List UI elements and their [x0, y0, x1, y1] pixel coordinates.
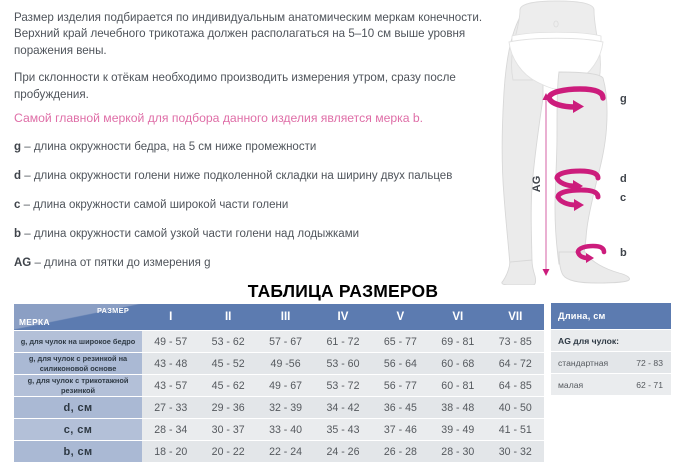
length-panel-header: Длина, см	[551, 303, 671, 329]
legend-text-g: – длина окружности бедра, на 5 см ниже п…	[24, 141, 316, 153]
leg-measurement-illustration: AG g d c	[487, 0, 686, 285]
cell-r3-c2: 32 - 39	[257, 397, 314, 418]
cell-r0-c3: 61 - 72	[314, 331, 371, 352]
intro-paragraph-1: Размер изделия подбирается по индивидуал…	[14, 10, 496, 59]
cell-r3-c1: 29 - 36	[199, 397, 256, 418]
table-row: g, для чулок с резинкой на силиконовой о…	[14, 353, 544, 374]
legend-item-d: d – длина окружности голени ниже подколе…	[14, 169, 504, 183]
header-col-5: V	[372, 304, 429, 330]
legend-key-d: d	[14, 170, 21, 182]
cell-r2-c3: 53 - 72	[314, 375, 371, 396]
length-value-standard: 72 - 83	[636, 358, 663, 368]
cell-r5-c2: 22 - 24	[257, 441, 314, 462]
legend-text-b: – длина окружности самой узкой части гол…	[24, 228, 359, 240]
legend-key-ag: AG	[14, 257, 31, 269]
header-merka-label: МЕРКА	[19, 317, 50, 327]
length-name-ag: AG для чулок:	[558, 336, 619, 346]
legend-item-b: b – длина окружности самой узкой части г…	[14, 227, 504, 241]
cell-r4-c5: 39 - 49	[429, 419, 486, 440]
cell-r1-c5: 60 - 68	[429, 353, 486, 374]
table-row: c, см 28 - 34 30 - 37 33 - 40 35 - 43 37…	[14, 419, 544, 440]
cell-r5-c6: 30 - 32	[487, 441, 545, 462]
header-corner-cell: РАЗМЕР МЕРКА	[14, 304, 142, 330]
cell-r4-c4: 37 - 46	[372, 419, 429, 440]
legend-text-c: – длина окружности самой широкой части г…	[24, 199, 289, 211]
cell-r1-c0: 43 - 48	[142, 353, 199, 374]
cell-r3-c6: 40 - 50	[487, 397, 545, 418]
size-table: РАЗМЕР МЕРКА I II III IV V VI VII g, для…	[14, 303, 544, 463]
cell-r0-c6: 73 - 85	[487, 331, 545, 352]
cell-r2-c2: 49 - 67	[257, 375, 314, 396]
size-table-header-row: РАЗМЕР МЕРКА I II III IV V VI VII	[14, 304, 544, 330]
cell-r0-c5: 69 - 81	[429, 331, 486, 352]
cell-r4-c3: 35 - 43	[314, 419, 371, 440]
legend-text-ag: – длина от пятки до измерения g	[34, 257, 210, 269]
table-row: d, см 27 - 33 29 - 36 32 - 39 34 - 42 36…	[14, 397, 544, 418]
size-table-head: РАЗМЕР МЕРКА I II III IV V VI VII	[14, 304, 544, 330]
label-c: c	[620, 192, 626, 204]
cell-r1-c1: 45 - 52	[199, 353, 256, 374]
cell-r3-c5: 38 - 48	[429, 397, 486, 418]
cell-r1-c6: 64 - 72	[487, 353, 545, 374]
label-b: b	[620, 247, 627, 259]
cell-r0-c4: 65 - 77	[372, 331, 429, 352]
header-col-6: VI	[429, 304, 486, 330]
cell-r2-c4: 56 - 77	[372, 375, 429, 396]
size-table-body: g, для чулок на широкое бедро 49 - 57 53…	[14, 331, 544, 462]
cell-r2-c5: 60 - 81	[429, 375, 486, 396]
cell-r3-c3: 34 - 42	[314, 397, 371, 418]
row-label-g-silicone: g, для чулок с резинкой на силиконовой о…	[14, 353, 142, 374]
cell-r5-c3: 24 - 26	[314, 441, 371, 462]
cell-r2-c1: 45 - 62	[199, 375, 256, 396]
length-row-standard: стандартная 72 - 83	[551, 352, 671, 373]
header-col-7: VII	[487, 304, 545, 330]
right-foot-shape	[559, 252, 630, 283]
cell-r2-c6: 64 - 85	[487, 375, 545, 396]
cell-r5-c0: 18 - 20	[142, 441, 199, 462]
header-col-3: III	[257, 304, 314, 330]
cell-r1-c4: 56 - 64	[372, 353, 429, 374]
length-value-small: 62 - 71	[636, 380, 663, 390]
highlight-note: Самой главной меркой для подбора данного…	[14, 110, 504, 126]
measurement-legend: g – длина окружности бедра, на 5 см ниже…	[14, 140, 504, 285]
intro-paragraph-2: При склонности к отёкам необходимо произ…	[14, 70, 496, 103]
cell-r1-c3: 53 - 60	[314, 353, 371, 374]
cell-r5-c1: 20 - 22	[199, 441, 256, 462]
row-label-b: b, см	[14, 441, 142, 462]
cell-r5-c4: 26 - 28	[372, 441, 429, 462]
cell-r0-c0: 49 - 57	[142, 331, 199, 352]
right-leg-shape	[555, 72, 607, 264]
cell-r2-c0: 43 - 57	[142, 375, 199, 396]
length-panel: Длина, см AG для чулок: стандартная 72 -…	[551, 303, 671, 395]
cell-r1-c2: 49 -56	[257, 353, 314, 374]
legend-key-b: b	[14, 228, 21, 240]
cell-r4-c6: 41 - 51	[487, 419, 545, 440]
label-g: g	[620, 93, 627, 105]
cell-r4-c2: 33 - 40	[257, 419, 314, 440]
cell-r3-c4: 36 - 45	[372, 397, 429, 418]
header-size-label: РАЗМЕР	[97, 306, 129, 315]
legend-item-c: c – длина окружности самой широкой части…	[14, 198, 504, 212]
label-d: d	[620, 173, 627, 185]
legend-item-ag: AG – длина от пятки до измерения g	[14, 256, 504, 270]
table-row: g, для чулок с трикотажной резинкой 43 -…	[14, 375, 544, 396]
table-row: g, для чулок на широкое бедро 49 - 57 53…	[14, 331, 544, 352]
row-label-g-wide: g, для чулок на широкое бедро	[14, 331, 142, 352]
row-label-g-knit: g, для чулок с трикотажной резинкой	[14, 375, 142, 396]
legend-item-g: g – длина окружности бедра, на 5 см ниже…	[14, 140, 504, 154]
header-col-4: IV	[314, 304, 371, 330]
legend-text-d: – длина окружности голени ниже подколенн…	[24, 170, 452, 182]
legend-key-g: g	[14, 141, 21, 153]
header-col-1: I	[142, 304, 199, 330]
cell-r0-c2: 57 - 67	[257, 331, 314, 352]
length-row-ag: AG для чулок:	[551, 330, 671, 351]
cell-r4-c0: 28 - 34	[142, 419, 199, 440]
row-label-d: d, см	[14, 397, 142, 418]
ag-label: AG	[531, 176, 543, 193]
cell-r5-c5: 28 - 30	[429, 441, 486, 462]
cell-r3-c0: 27 - 33	[142, 397, 199, 418]
instructions-section: Размер изделия подбирается по индивидуал…	[0, 0, 686, 280]
ag-arrow-bottom	[543, 269, 550, 276]
length-name-standard: стандартная	[558, 358, 608, 368]
page-title: ТАБЛИЦА РАЗМЕРОВ	[0, 281, 686, 302]
length-name-small: малая	[558, 380, 583, 390]
intro-text-block: Размер изделия подбирается по индивидуал…	[14, 10, 496, 114]
length-row-small: малая 62 - 71	[551, 374, 671, 395]
table-row: b, см 18 - 20 20 - 22 22 - 24 24 - 26 26…	[14, 441, 544, 462]
cell-r0-c1: 53 - 62	[199, 331, 256, 352]
header-col-2: II	[199, 304, 256, 330]
legend-key-c: c	[14, 199, 20, 211]
cell-r4-c1: 30 - 37	[199, 419, 256, 440]
row-label-c: c, см	[14, 419, 142, 440]
